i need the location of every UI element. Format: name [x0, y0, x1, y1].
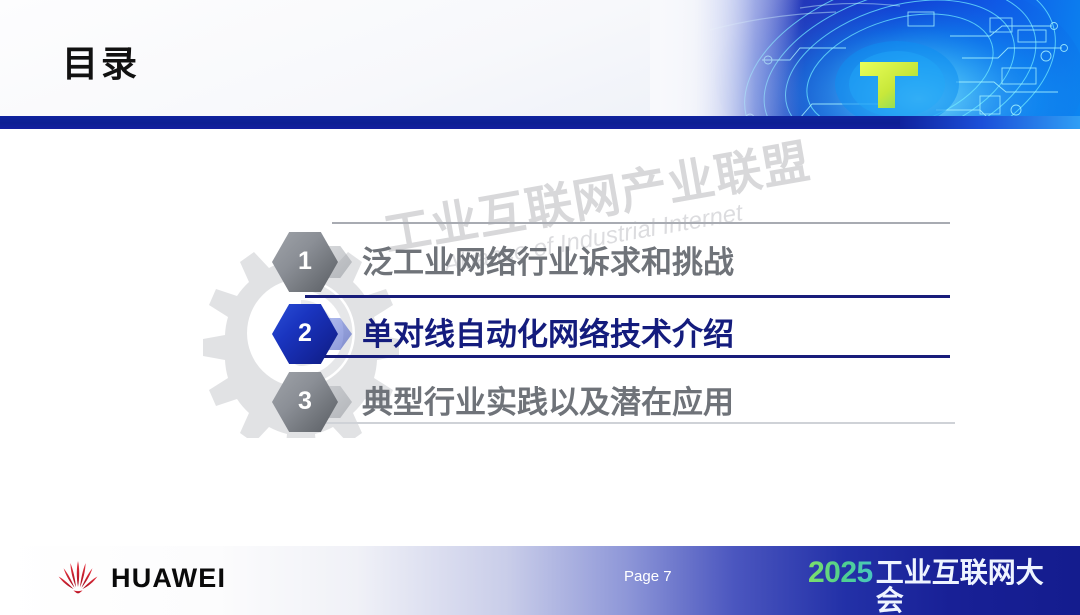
toc-divider-active-top [305, 295, 950, 298]
toc-item-3-badge: 3 [272, 372, 338, 432]
conference-logo-top: 2025 工业互联网大会 [808, 558, 1048, 615]
toc-item-3-label: 典型行业实践以及潜在应用 [362, 387, 734, 418]
presentation-slide: 目录 工业互联网产业联盟 Alliance of Industrial Inte… [0, 0, 1080, 615]
page-title: 目录 [62, 46, 140, 82]
conference-name-cn: 工业互联网大会 [876, 559, 1048, 615]
toc-item-1[interactable]: 1 泛工业网络行业诉求和挑战 [272, 232, 734, 292]
conference-year: 2025 [808, 558, 873, 588]
huawei-logo: HUAWEI [56, 558, 226, 598]
slide-header: 目录 [0, 0, 1080, 116]
toc-item-1-label: 泛工业网络行业诉求和挑战 [362, 247, 734, 278]
toc-item-3-number: 3 [272, 372, 338, 432]
header-artwork-left-fade [650, 0, 800, 116]
toc-item-1-badge: 1 [272, 232, 338, 292]
toc-item-1-number: 1 [272, 232, 338, 292]
huawei-wordmark: HUAWEI [111, 565, 226, 592]
toc-item-2-badge: 2 [272, 304, 338, 364]
page-number: Page 7 [624, 569, 672, 584]
header-divider-bar-glow [900, 116, 1080, 129]
toc-item-2-number: 2 [272, 304, 338, 364]
toc-item-2-label: 单对线自动化网络技术介绍 [362, 319, 734, 350]
toc-item-3[interactable]: 3 典型行业实践以及潜在应用 [272, 372, 734, 432]
header-tech-artwork [650, 0, 1080, 116]
toc-divider-top [332, 222, 950, 224]
huawei-flower-icon [56, 558, 100, 598]
toc-item-2[interactable]: 2 单对线自动化网络技术介绍 [272, 304, 734, 364]
conference-logo: 2025 工业互联网大会 INDUSTRIAL INTERNET CONFERE… [808, 558, 1048, 615]
